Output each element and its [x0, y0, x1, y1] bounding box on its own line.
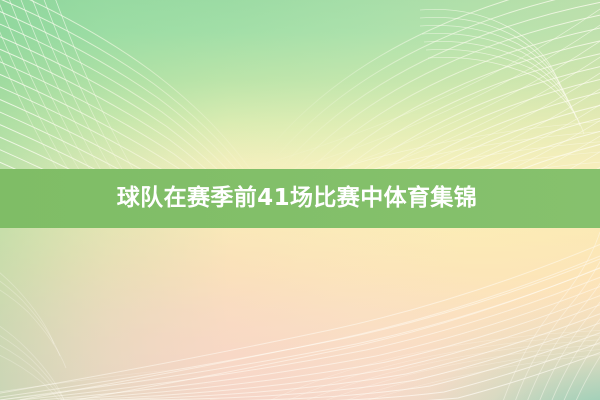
caption-text: 球队在赛季前41场比赛中体育集锦	[117, 187, 483, 210]
caption-band: 球队在赛季前41场比赛中体育集锦	[0, 169, 600, 228]
decorative-banner: 球队在赛季前41场比赛中体育集锦	[0, 0, 600, 400]
